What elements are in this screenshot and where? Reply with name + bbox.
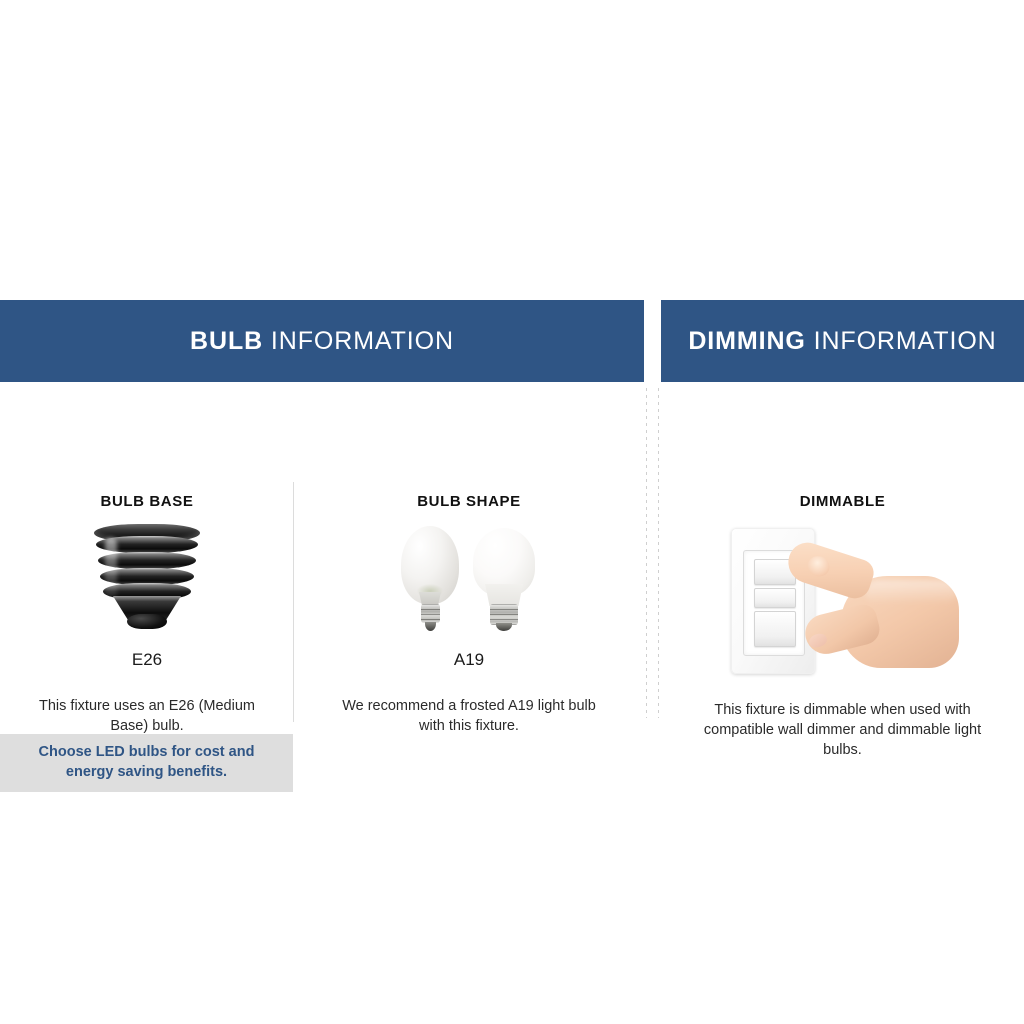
product-spec-infographic: BULB INFORMATION BULB BASE (0, 0, 1024, 1024)
bulb-screw-ridges (421, 604, 440, 623)
dimmable-description: This fixture is dimmable when used with … (693, 700, 993, 760)
bulb-base-media (0, 522, 294, 642)
bulb-base-description: This fixture uses an E26 (Medium Base) b… (22, 696, 272, 736)
dimming-information-title-rest: INFORMATION (806, 327, 997, 355)
a19-incandescent-bulb-icon (401, 526, 459, 632)
panel-separator-dashed-right (658, 388, 659, 718)
dimmable-media (661, 524, 1024, 676)
bulb-base-caption: E26 (0, 650, 294, 670)
dimmable-title: DIMMABLE (661, 382, 1024, 510)
dimming-columns: DIMMABLE (661, 382, 1024, 802)
a19-bulbs-group (395, 522, 543, 636)
bulb-information-title-strong: BULB (190, 327, 263, 355)
e26-contact-tip (127, 614, 167, 629)
hand-pressing-switch-icon (779, 546, 959, 674)
led-recommendation-text: Choose LED bulbs for cost and energy sav… (32, 743, 262, 782)
dimmable-column: DIMMABLE (661, 382, 1024, 802)
hand-knuckles-highlight (865, 580, 957, 604)
bulb-screw-base (490, 604, 518, 625)
bulb-information-body: BULB BASE E26 (0, 382, 644, 802)
a19-led-bulb-icon (473, 528, 535, 632)
dimming-information-title: DIMMING INFORMATION (688, 327, 996, 356)
bulb-screw-base (421, 604, 440, 623)
dimming-information-header: DIMMING INFORMATION (661, 300, 1024, 382)
bulb-shape-description: We recommend a frosted A19 light bulb wi… (329, 696, 609, 736)
bulb-information-header: BULB INFORMATION (0, 300, 644, 382)
dimming-information-body: DIMMABLE (661, 382, 1024, 802)
bulb-contact-tip (425, 622, 436, 631)
e26-highlight (105, 538, 117, 600)
bulb-screw-ridges (490, 604, 518, 625)
bulb-contact-tip (496, 623, 512, 631)
bulb-information-panel: BULB INFORMATION BULB BASE (0, 300, 644, 802)
bulb-shape-column: BULB SHAPE (294, 382, 644, 802)
dimming-information-title-strong: DIMMING (688, 327, 805, 355)
e26-screw-base-icon (91, 524, 203, 634)
bulb-base-title: BULB BASE (0, 382, 294, 510)
bulb-shoulder (485, 584, 523, 606)
bulb-shape-caption: A19 (294, 650, 644, 670)
hand-index-finger (782, 538, 876, 603)
bulb-information-title-rest: INFORMATION (263, 327, 454, 355)
dimming-information-panel: DIMMING INFORMATION DIMMABLE (661, 300, 1024, 802)
bulb-shape-media (294, 522, 644, 642)
bulb-information-title: BULB INFORMATION (190, 327, 454, 356)
wall-dimmer-switch-icon (723, 524, 963, 676)
bulb-shape-title: BULB SHAPE (294, 382, 644, 510)
led-recommendation-callout: Choose LED bulbs for cost and energy sav… (0, 734, 293, 792)
hand-fingertip (805, 553, 832, 579)
panel-separator-dashed-left (646, 388, 647, 718)
